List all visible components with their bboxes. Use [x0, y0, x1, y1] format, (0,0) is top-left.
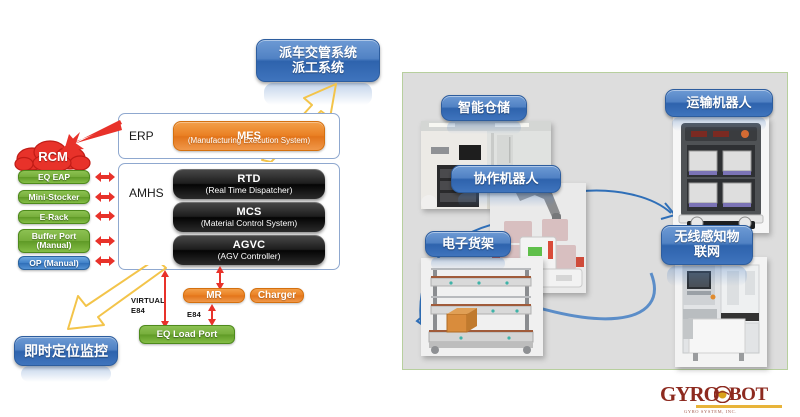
- rcm-label: RCM: [14, 139, 92, 173]
- gyrobot-logo: GYRO BOT GYRO SYSTEM, INC.: [660, 382, 790, 412]
- mini-stocker-box[interactable]: Mini-Stocker: [18, 190, 90, 204]
- logo-tagline: GYRO SYSTEM, INC.: [684, 409, 790, 414]
- mcs-abbr: MCS: [236, 206, 261, 218]
- mr-label: MR: [206, 290, 222, 301]
- red-arrow-mr-to-loadport: [207, 303, 217, 327]
- callout-wireless-iot-line2: 联网: [694, 245, 720, 260]
- mini-stocker-label: Mini-Stocker: [28, 193, 79, 202]
- callout-transport-robot[interactable]: 运输机器人: [665, 89, 773, 117]
- callout-wireless-iot[interactable]: 无线感知物 联网: [661, 225, 753, 265]
- eq-eap-label: EQ EAP: [38, 173, 70, 182]
- right-photo-panel: 智能仓储: [402, 72, 788, 370]
- transport-cart-photo: [673, 117, 769, 233]
- charger-box[interactable]: Charger: [250, 288, 304, 303]
- eq-load-port-label: EQ Load Port: [157, 330, 218, 340]
- agvc-abbr: AGVC: [233, 239, 266, 251]
- electronic-shelf-photo: [421, 258, 543, 356]
- buffer-port-box[interactable]: Buffer Port (Manual): [18, 229, 90, 253]
- semiconductor-tool-photo: [675, 257, 767, 367]
- rtd-full-name: (Real Time Dispatcher): [206, 185, 293, 195]
- mcs-box[interactable]: MCS (Material Control System): [173, 202, 325, 232]
- dispatch-system-line2: 派工系统: [292, 61, 344, 76]
- e-rack-box[interactable]: E-Rack: [18, 210, 90, 224]
- mcs-full-name: (Material Control System): [201, 218, 297, 228]
- eq-load-port-box[interactable]: EQ Load Port: [139, 325, 235, 344]
- slide-canvas: 派车交管系统 派工系统 ERP MES (Manufacturing Execu…: [0, 0, 800, 417]
- mes-full-name: (Manufacturing Execution System): [174, 136, 324, 145]
- callout-electronic-rack-label: 电子货架: [442, 237, 494, 252]
- logo-text-main: GYRO: [660, 382, 719, 407]
- e84-text: E84: [187, 310, 201, 319]
- callout-wireless-iot-line1: 无线感知物: [674, 230, 739, 245]
- logo-text-sub: BOT: [729, 384, 768, 406]
- realtime-positioning-box[interactable]: 即时定位监控: [14, 336, 118, 366]
- erp-group-label: ERP: [129, 129, 154, 143]
- e84-label: E84: [187, 310, 201, 320]
- agvc-box[interactable]: AGVC (AGV Controller): [173, 235, 325, 265]
- dispatch-system-box[interactable]: 派车交管系统 派工系统: [256, 39, 380, 82]
- callout-transport-robot-label: 运输机器人: [686, 96, 751, 111]
- callout-electronic-rack[interactable]: 电子货架: [425, 231, 511, 257]
- red-arrow-loadport-to-amhs: [160, 268, 170, 330]
- e-rack-label: E-Rack: [40, 213, 69, 222]
- mr-box[interactable]: MR: [183, 288, 245, 303]
- realtime-positioning-label: 即时定位监控: [24, 343, 108, 359]
- callout-cobot-label: 协作机器人: [473, 172, 538, 187]
- virtual-e84-line1: VIRTUAL: [131, 296, 179, 306]
- red-bidirectional-arrows: [94, 166, 116, 274]
- virtual-e84-line2: E84: [131, 306, 179, 316]
- rcm-cloud[interactable]: RCM: [14, 139, 92, 173]
- callout-cobot[interactable]: 协作机器人: [451, 165, 561, 193]
- virtual-e84-label: VIRTUAL E84: [131, 296, 179, 316]
- callout-smart-warehouse[interactable]: 智能仓储: [441, 95, 527, 121]
- callout-smart-warehouse-label: 智能仓储: [458, 101, 510, 116]
- mes-box[interactable]: MES (Manufacturing Execution System): [173, 121, 325, 151]
- rtd-box[interactable]: RTD (Real Time Dispatcher): [173, 169, 325, 199]
- dispatch-system-line1: 派车交管系统: [279, 46, 357, 61]
- buffer-port-label: Buffer Port (Manual): [21, 232, 87, 250]
- rtd-abbr: RTD: [237, 173, 260, 185]
- charger-label: Charger: [258, 290, 296, 301]
- amhs-group-label: AMHS: [129, 186, 164, 200]
- agvc-full-name: (AGV Controller): [218, 251, 281, 261]
